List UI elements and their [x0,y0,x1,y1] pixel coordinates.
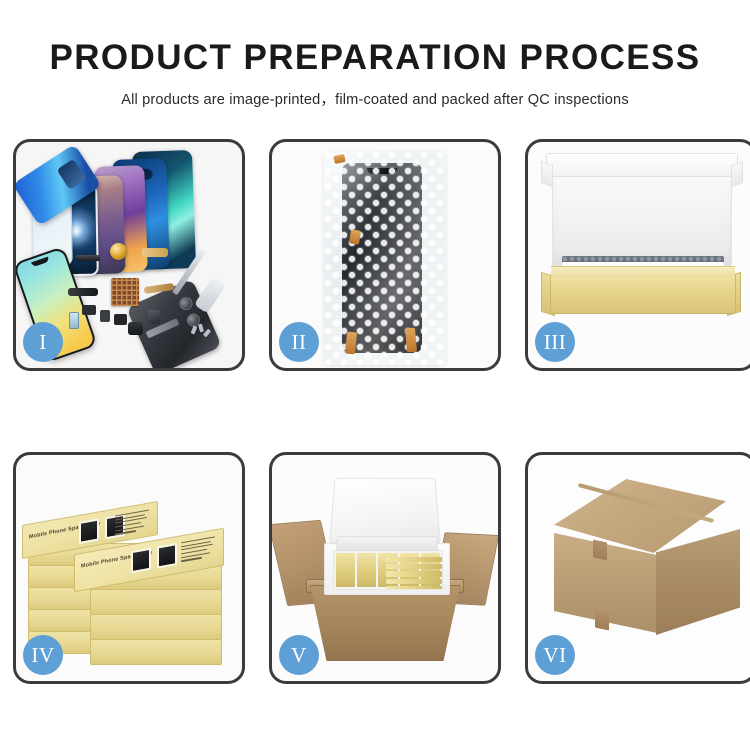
phone-notch-icon [31,257,50,268]
screwdriver-handle-icon [194,276,226,313]
process-step-1[interactable]: I Mobile phone screens, tempered glass f… [13,139,245,371]
yellow-box-icon [386,579,442,584]
process-step-5[interactable]: V Boxes loaded into a foam-lined export … [269,452,501,684]
yellow-boxes-stacked-icon [386,557,442,590]
stacked-box-icon [90,614,222,640]
yellow-box-icon [386,557,442,562]
chip-icon [82,305,96,315]
box-window-phone-icon [157,543,177,569]
flex-cable-icon [68,288,98,296]
sealed-carton-right-face-icon [656,529,740,635]
connector-bar-icon [76,255,100,261]
yellow-box-icon [357,553,376,587]
yellow-box-icon [336,553,355,587]
yellow-box-icon [386,586,442,590]
tape-piece-icon [349,229,361,244]
chip-icon [114,314,127,325]
camera-module-icon [110,243,127,260]
stacked-box-icon [90,589,222,615]
carton-body-icon [310,585,460,661]
vibration-motor-icon [148,310,160,324]
step-4-badge: IV [23,635,63,675]
tape-piece-icon [595,610,609,631]
chip-icon [100,310,110,322]
yellow-box-icon [386,571,442,576]
logic-board-grid-icon [111,278,139,306]
step-1-badge: I [23,322,63,362]
process-step-3[interactable]: III Item placed into a yellow inner box … [525,139,750,371]
header: PRODUCT PREPARATION PROCESS All products… [0,0,750,109]
foam-cavity-icon [333,550,443,590]
foam-lid-icon [329,478,441,544]
speaker-icon [128,322,143,335]
screws-icon [192,324,212,338]
yellow-inner-box-icon [550,274,736,314]
battery-icon [69,312,79,329]
process-steps-grid: I Mobile phone screens, tempered glass f… [13,139,737,684]
product-preparation-infographic: PRODUCT PREPARATION PROCESS All products… [0,0,750,750]
bubble-wrap-package-icon [324,151,446,365]
plastic-sheen-icon [324,151,446,365]
flex-cable-icon [142,248,168,257]
stacked-box-icon [90,639,222,665]
box-spec-lines-icon [115,510,149,538]
tape-piece-icon [593,540,607,561]
box-window-phone-icon [79,518,99,544]
tape-piece-icon [405,328,417,353]
camera-lens-icon [177,295,194,312]
step-6-badge: VI [535,635,575,675]
step-3-badge: III [535,322,575,362]
box-lid-top-icon [546,153,738,177]
box-spec-lines-icon [181,536,215,564]
step-2-badge: II [279,322,319,362]
step-5-badge: V [279,635,319,675]
process-step-4[interactable]: Mobile Phone Spare Parts Mobile Phone Sp… [13,452,245,684]
yellow-box-icon [386,564,442,569]
page-title: PRODUCT PREPARATION PROCESS [0,40,750,77]
process-step-2[interactable]: II Individual screen assembly sealed in … [269,139,501,371]
page-subtitle: All products are image-printed，film-coat… [0,88,750,109]
process-step-6[interactable]: VI Carton taped and sealed ready for shi… [525,452,750,684]
box-window-phone-icon [131,548,151,574]
